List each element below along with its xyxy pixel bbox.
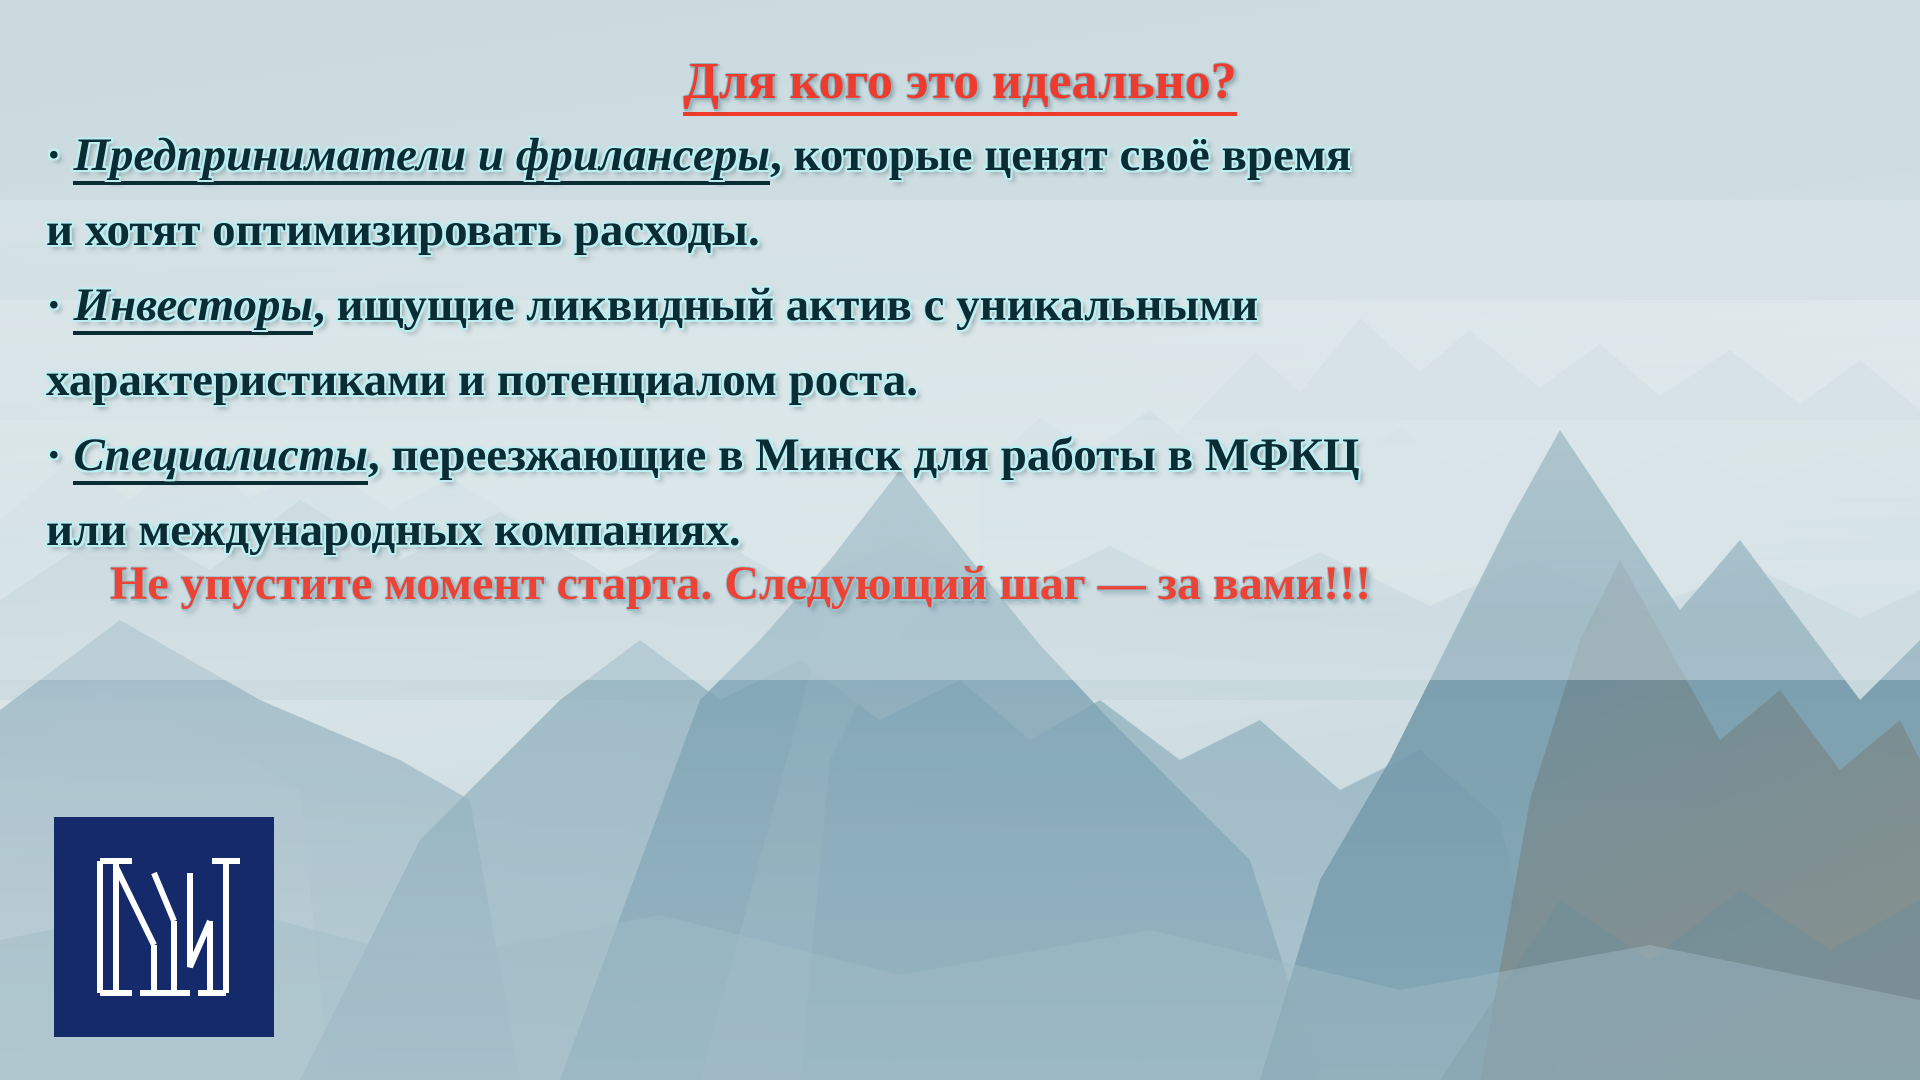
bullet-marker: ·: [46, 129, 62, 181]
bullet-marker: ·: [46, 279, 62, 331]
line-text: характеристиками и потенциалом роста.: [46, 354, 918, 406]
slide-content: Для кого это идеально? · Предприниматели…: [0, 0, 1920, 1080]
line-text: или международных компаниях.: [46, 504, 741, 556]
logo: [54, 817, 274, 1037]
line-text: и хотят оптимизировать расходы.: [46, 204, 760, 256]
bullet-marker: ·: [46, 429, 62, 481]
line-text: , переезжающие в Минск для работы в МФКЦ: [368, 429, 1360, 481]
list-item-continuation: характеристиками и потенциалом роста.: [46, 343, 1546, 418]
page-title-text: Для кого это идеально?: [683, 52, 1236, 116]
emphasis-text: Специалисты: [73, 429, 367, 485]
list-item-continuation: и хотят оптимизировать расходы.: [46, 193, 1546, 268]
page-title: Для кого это идеально?: [0, 52, 1920, 116]
logo-monogram-mark: [100, 861, 240, 993]
call-to-action-text: Не упустите момент старта. Следующий шаг…: [110, 556, 1510, 611]
list-item: · Предприниматели и фрилансеры, которые …: [46, 118, 1546, 193]
emphasis-text: Инвесторы: [73, 279, 313, 335]
emphasis-text: Предприниматели и фрилансеры: [73, 129, 770, 185]
line-text: , ищущие ликвидный актив с уникальными: [313, 279, 1258, 331]
line-text: , которые ценят своё время: [770, 129, 1351, 181]
bullet-list: · Предприниматели и фрилансеры, которые …: [46, 118, 1546, 568]
list-item: · Инвесторы, ищущие ликвидный актив с ун…: [46, 268, 1546, 343]
list-item: · Специалисты, переезжающие в Минск для …: [46, 418, 1546, 493]
